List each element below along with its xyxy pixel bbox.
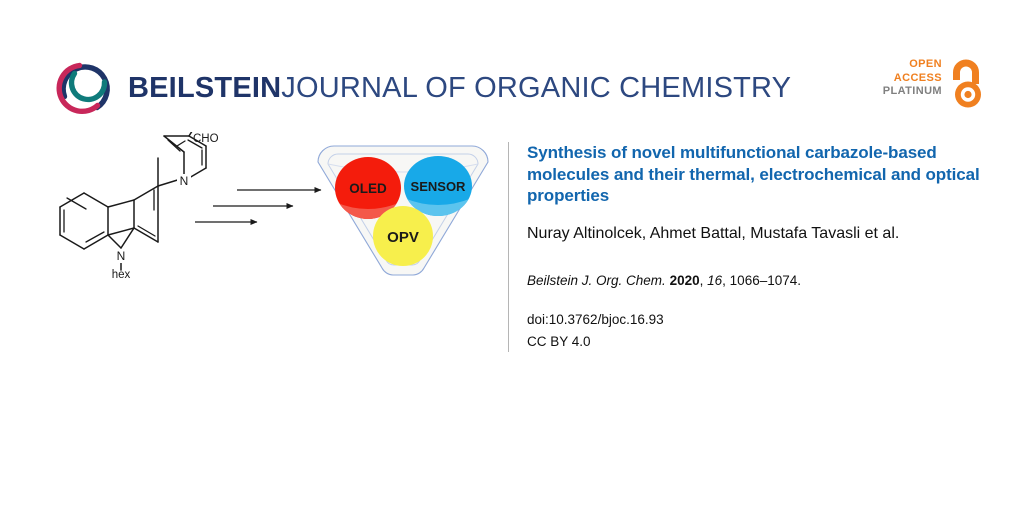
funnel-item-opv: OPV — [373, 206, 433, 266]
article-citation: Beilstein J. Org. Chem. 2020, 16, 1066–1… — [527, 272, 988, 290]
open-access-badge: OPEN ACCESS PLATINUM — [884, 58, 988, 110]
funnel-label-sensor: SENSOR — [411, 179, 467, 194]
wordmark-subtitle: JOURNAL OF ORGANIC CHEMISTRY — [281, 72, 791, 105]
wordmark-beilstein: BEILSTEIN — [128, 72, 281, 105]
open-access-text: OPEN ACCESS PLATINUM — [883, 58, 942, 99]
molecule-label-cho: CHO — [193, 133, 219, 145]
molecule-label-hex: hex — [112, 269, 131, 281]
beilstein-spiral-logo-icon — [52, 56, 116, 120]
svg-text:N: N — [117, 249, 126, 263]
masthead: BEILSTEIN JOURNAL OF ORGANIC CHEMISTRY O… — [0, 0, 1024, 132]
oa-line-platinum: PLATINUM — [883, 85, 942, 99]
funnel-label-opv: OPV — [387, 229, 419, 246]
page-title: Synthesis of novel multifunctional carba… — [527, 142, 988, 207]
citation-journal: Beilstein J. Org. Chem. — [527, 273, 666, 288]
graphical-abstract: CHO N N hex N N — [30, 132, 500, 352]
citation-volume: 16 — [707, 273, 722, 288]
journal-wordmark: BEILSTEIN JOURNAL OF ORGANIC CHEMISTRY — [128, 70, 791, 106]
funnel-label-oled: OLED — [349, 181, 387, 196]
applications-funnel: OLED SENSOR OPV — [312, 140, 494, 290]
open-lock-icon — [948, 59, 988, 109]
citation-year: 2020 — [670, 273, 700, 288]
article-authors: Nuray Altinolcek, Ahmet Battal, Mustafa … — [527, 224, 988, 244]
oa-line-access: ACCESS — [883, 72, 942, 86]
oa-line-open: OPEN — [883, 58, 942, 72]
article-license[interactable]: CC BY 4.0 — [527, 332, 988, 352]
article-doi[interactable]: doi:10.3762/bjoc.16.93 — [527, 310, 988, 330]
citation-pages: 1066–1074. — [730, 273, 801, 288]
article-info-panel: Synthesis of novel multifunctional carba… — [508, 142, 988, 352]
svg-text:N: N — [180, 174, 189, 188]
